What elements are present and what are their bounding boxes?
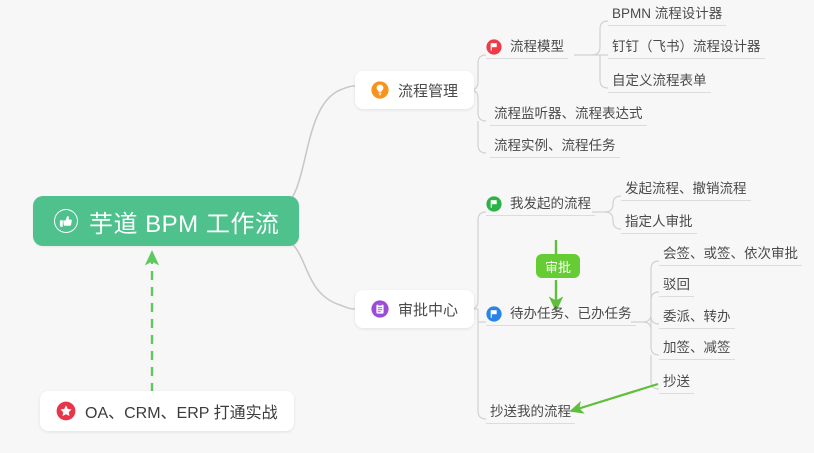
- flag-icon: [486, 196, 502, 212]
- item-reject-label: 驳回: [663, 273, 690, 293]
- item-assignee-approval[interactable]: 指定人审批: [621, 208, 697, 234]
- item-cc-my-process[interactable]: 抄送我的流程: [486, 398, 575, 424]
- flag-icon: [486, 39, 502, 55]
- item-process-model-label: 流程模型: [510, 35, 564, 55]
- clipboard-icon: [371, 300, 389, 318]
- root-node[interactable]: 芋道 BPM 工作流: [33, 196, 299, 246]
- item-cc-label: 抄送: [663, 370, 690, 390]
- item-add-remove-sign-label: 加签、减签: [663, 336, 731, 356]
- edge-model-to-bpmn: [574, 21, 608, 55]
- item-reject[interactable]: 驳回: [659, 271, 694, 297]
- item-assignee-approval-label: 指定人审批: [625, 210, 693, 230]
- star-icon: [56, 401, 76, 421]
- item-process-model[interactable]: 流程模型: [486, 33, 568, 59]
- branch-approval-center-label: 审批中心: [398, 299, 458, 320]
- edge-initiated-to-start-cancel: [592, 196, 621, 212]
- item-todo-done-task-label: 待办任务、已办任务: [510, 302, 632, 322]
- item-add-remove-sign[interactable]: 加签、减签: [659, 334, 735, 360]
- edge-todo-to-reject: [651, 292, 659, 314]
- item-process-listener-label: 流程监听器、流程表达式: [494, 102, 643, 122]
- edge-root-to-approval-center: [281, 238, 355, 309]
- approval-badge-label: 审批: [545, 257, 571, 276]
- item-dingtalk-feishu-designer[interactable]: 钉钉（飞书）流程设计器: [608, 33, 765, 59]
- item-custom-process-form[interactable]: 自定义流程表单: [608, 67, 711, 93]
- edge-initiated-to-assignee: [605, 212, 621, 229]
- item-dingtalk-feishu-designer-label: 钉钉（飞书）流程设计器: [612, 35, 761, 55]
- item-cc-my-process-label: 抄送我的流程: [490, 400, 571, 420]
- mindmap-canvas: 芋道 BPM 工作流 流程管理 审批中心: [0, 0, 814, 453]
- edge-todo-to-add-remove-sign: [651, 330, 659, 355]
- edge-todo-to-cc: [651, 355, 659, 389]
- branch-process-management-label: 流程管理: [398, 80, 458, 101]
- approval-badge[interactable]: 审批: [536, 254, 580, 278]
- edge-todo-to-delegate: [643, 316, 659, 330]
- item-my-initiated-process[interactable]: 我发起的流程: [486, 190, 595, 216]
- lightbulb-icon: [371, 81, 389, 99]
- branch-approval-center[interactable]: 审批中心: [355, 290, 474, 328]
- item-process-instance-task-label: 流程实例、流程任务: [494, 134, 616, 154]
- edge-ac-to-cc-my-process: [478, 322, 486, 419]
- item-countersign[interactable]: 会签、或签、依次审批: [659, 240, 802, 266]
- item-countersign-label: 会签、或签、依次审批: [663, 242, 798, 262]
- root-label: 芋道 BPM 工作流: [89, 204, 279, 239]
- thumbs-up-icon: [53, 208, 79, 234]
- flag-icon: [486, 306, 502, 322]
- edge-root-to-process-management: [281, 86, 355, 206]
- integration-note-node[interactable]: OA、CRM、ERP 打通实战: [40, 391, 294, 431]
- item-my-initiated-process-label: 我发起的流程: [510, 192, 591, 212]
- item-bpmn-designer[interactable]: BPMN 流程设计器: [608, 0, 726, 26]
- item-todo-done-task[interactable]: 待办任务、已办任务: [486, 300, 636, 326]
- edge-pm-to-process-instance: [478, 121, 486, 153]
- integration-note-label: OA、CRM、ERP 打通实战: [85, 399, 278, 423]
- item-cc[interactable]: 抄送: [659, 368, 694, 394]
- item-delegate-transfer[interactable]: 委派、转办: [659, 303, 735, 329]
- edge-model-to-custom-form: [600, 55, 608, 88]
- item-start-cancel-process-label: 发起流程、撤销流程: [625, 177, 747, 197]
- item-bpmn-designer-label: BPMN 流程设计器: [612, 2, 722, 22]
- item-custom-process-form-label: 自定义流程表单: [612, 69, 707, 89]
- item-delegate-transfer-label: 委派、转办: [663, 305, 731, 325]
- branch-process-management[interactable]: 流程管理: [355, 71, 474, 109]
- edge-cc-to-cc-my-process-arrow: [571, 384, 658, 411]
- item-process-listener[interactable]: 流程监听器、流程表达式: [490, 100, 647, 126]
- item-start-cancel-process[interactable]: 发起流程、撤销流程: [621, 175, 751, 201]
- item-process-instance-task[interactable]: 流程实例、流程任务: [490, 132, 620, 158]
